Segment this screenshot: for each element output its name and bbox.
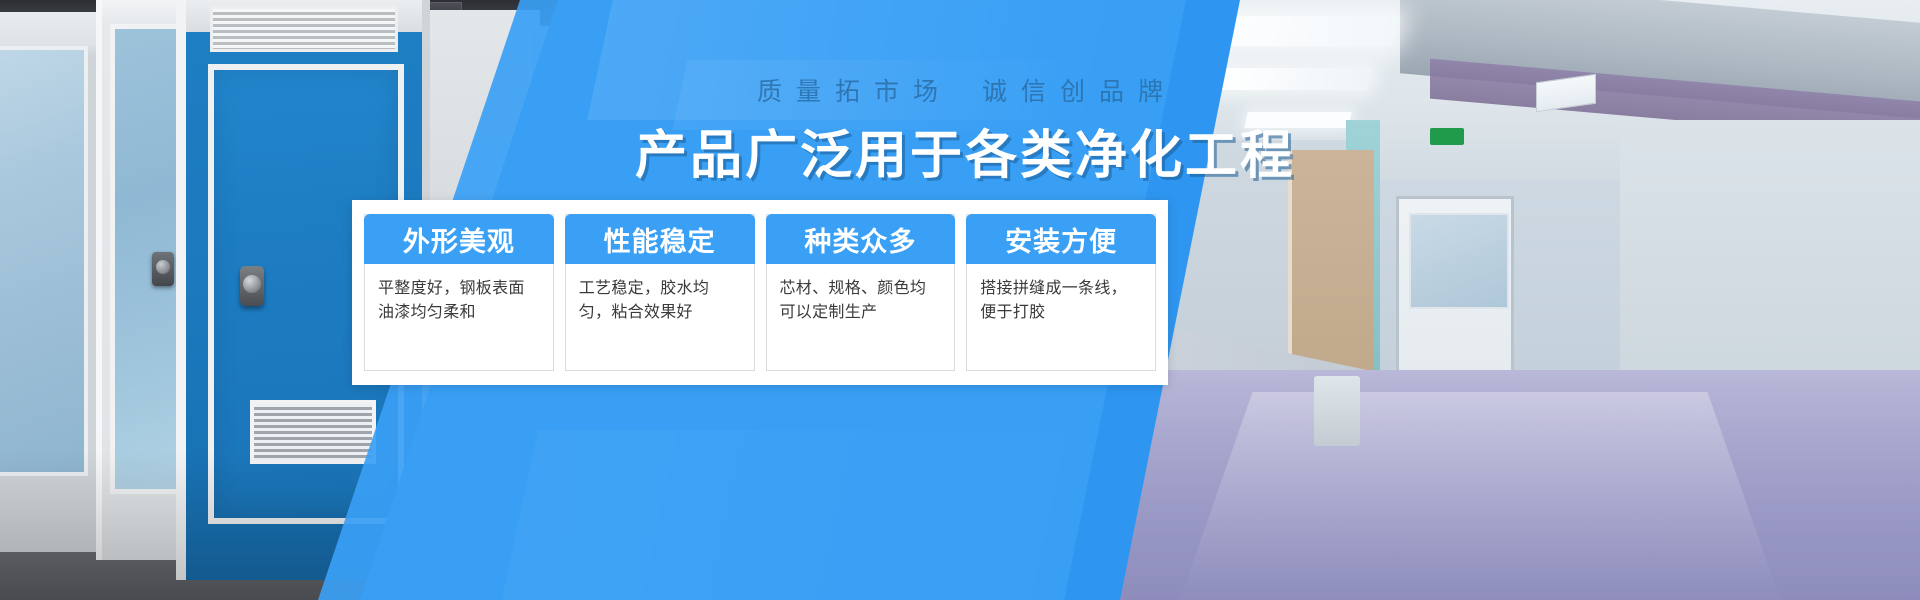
feature-card-body: 芯材、规格、颜色均可以定制生产 — [767, 264, 955, 370]
cabin-glass-panel — [0, 46, 88, 476]
cabin-top-vent — [210, 6, 398, 52]
corridor-cart — [1314, 376, 1360, 446]
feature-card-title: 种类众多 — [766, 214, 956, 264]
feature-card[interactable]: 种类众多 芯材、规格、颜色均可以定制生产 — [766, 214, 956, 371]
promo-banner: 质量拓市场诚信创品牌 产品广泛用于各类净化工程 外形美观 平整度好，钢板表面油漆… — [0, 0, 1920, 600]
cabin-door-knob — [240, 266, 264, 306]
feature-card-title: 性能稳定 — [565, 214, 755, 264]
feature-card[interactable]: 外形美观 平整度好，钢板表面油漆均匀柔和 — [364, 214, 554, 371]
feature-card-list: 外形美观 平整度好，钢板表面油漆均匀柔和 性能稳定 工艺稳定，胶水均匀，粘合效果… — [352, 200, 1168, 385]
feature-card[interactable]: 安装方便 搭接拼缝成一条线，便于打胶 — [966, 214, 1156, 371]
corridor-floor-highlight — [1176, 392, 1783, 600]
feature-card-title: 安装方便 — [966, 214, 1156, 264]
feature-card-title: 外形美观 — [364, 214, 554, 264]
banner-headline: 产品广泛用于各类净化工程 — [0, 113, 1920, 188]
feature-card-body: 工艺稳定，胶水均匀，粘合效果好 — [566, 264, 754, 370]
feature-card-body: 平整度好，钢板表面油漆均匀柔和 — [365, 264, 553, 370]
cabin-door-handle — [152, 252, 174, 286]
feature-card-body: 搭接拼缝成一条线，便于打胶 — [967, 264, 1155, 370]
tagline-right-text: 诚信创品牌 — [982, 77, 1177, 106]
banner-tagline: 质量拓市场诚信创品牌 — [0, 72, 1920, 108]
tagline-left-text: 质量拓市场 — [757, 77, 952, 106]
feature-card[interactable]: 性能稳定 工艺稳定，胶水均匀，粘合效果好 — [565, 214, 755, 371]
